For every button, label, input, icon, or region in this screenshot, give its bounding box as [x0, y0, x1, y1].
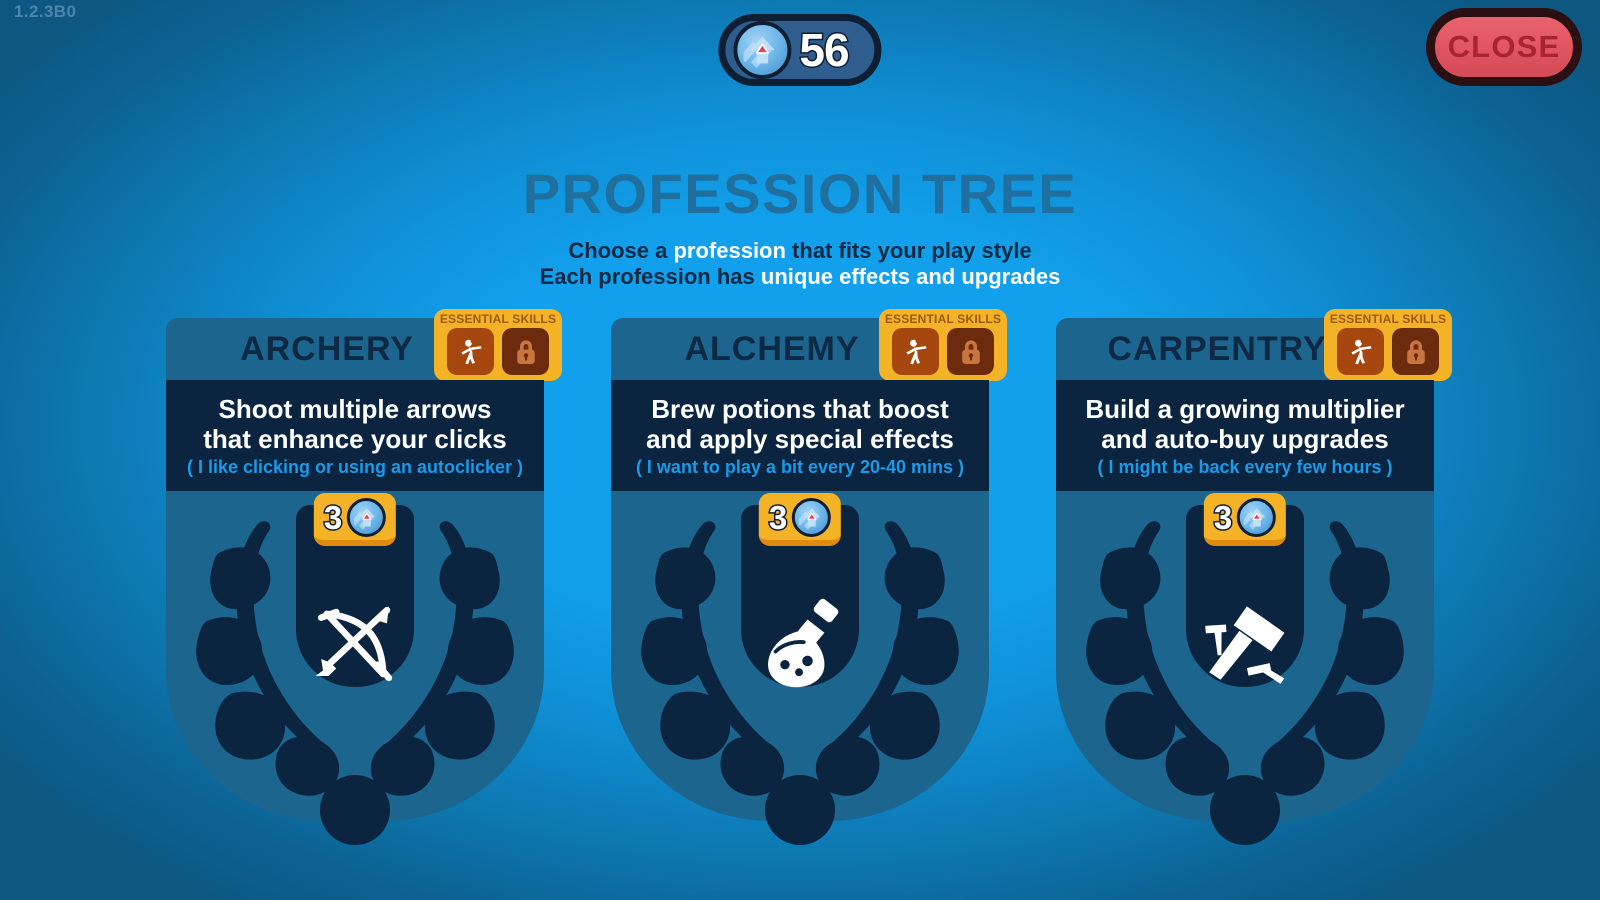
desc-line-1: Brew potions that boost [621, 394, 979, 424]
profession-card-carpentry[interactable]: CARPENTRY ESSENTIAL SKILLS [1056, 318, 1434, 821]
token-arrow-glyph [799, 505, 825, 531]
page-title: PROFESSION TREE [0, 166, 1600, 222]
essential-skills-badge-carpentry[interactable]: ESSENTIAL SKILLS [1324, 309, 1452, 381]
price-amount: 3 [769, 501, 787, 534]
lock-glyph [957, 337, 985, 367]
card-body-carpentry: 3 [1056, 491, 1434, 821]
potion-flask-icon [753, 597, 847, 691]
token-arrow-glyph [743, 32, 781, 70]
price-amount: 3 [324, 501, 342, 534]
card-header-carpentry: CARPENTRY ESSENTIAL SKILLS [1056, 318, 1434, 380]
subtitle-line-1: Choose a profession that fits your play … [0, 238, 1600, 264]
essential-skills-icons [1324, 328, 1452, 375]
card-description-carpentry: Build a growing multiplier and auto-buy … [1056, 380, 1434, 491]
archer-figure-icon[interactable] [1337, 328, 1384, 375]
profession-card-row: ARCHERY ESSENTIAL SKILLS [0, 318, 1600, 821]
card-base-dot [765, 775, 835, 845]
card-base-dot [320, 775, 390, 845]
essential-skills-icons [879, 328, 1007, 375]
essential-skills-badge-alchemy[interactable]: ESSENTIAL SKILLS [879, 309, 1007, 381]
card-body-alchemy: 3 [611, 491, 989, 821]
essential-skills-icons [434, 328, 562, 375]
subtitle-l1-a: Choose a [568, 238, 673, 263]
lock-icon[interactable] [947, 328, 994, 375]
upgrade-token-icon [733, 21, 791, 79]
lock-glyph [512, 337, 540, 367]
bow-and-arrow-icon [308, 597, 402, 691]
desc-line-2: and apply special effects [621, 424, 979, 454]
currency-amount: 56 [799, 27, 848, 73]
essential-skills-badge-archery[interactable]: ESSENTIAL SKILLS [434, 309, 562, 381]
upgrade-token-icon [1237, 498, 1276, 537]
subtitle-l2-a: Each profession has [540, 264, 761, 289]
desc-note: ( I like clicking or using an autoclicke… [176, 457, 534, 478]
lock-icon[interactable] [1392, 328, 1439, 375]
desc-note: ( I want to play a bit every 20-40 mins … [621, 457, 979, 478]
subtitle-l1-highlight: profession [673, 238, 785, 263]
close-button-label: CLOSE [1448, 29, 1561, 65]
archer-figure-glyph [901, 337, 931, 367]
subtitle-line-2: Each profession has unique effects and u… [0, 264, 1600, 290]
price-chip-alchemy[interactable]: 3 [759, 493, 841, 546]
price-chip-archery[interactable]: 3 [314, 493, 396, 546]
profession-tree-screen: 1.2.3B0 56 CLOSE PROFESSION TREE Choose … [0, 0, 1600, 900]
archer-figure-icon[interactable] [447, 328, 494, 375]
essential-skills-label: ESSENTIAL SKILLS [879, 312, 1007, 326]
currency-counter: 56 [718, 14, 881, 86]
essential-skills-label: ESSENTIAL SKILLS [1324, 312, 1452, 326]
upgrade-token-icon [792, 498, 831, 537]
desc-line-1: Shoot multiple arrows [176, 394, 534, 424]
version-label: 1.2.3B0 [14, 2, 76, 22]
essential-skills-label: ESSENTIAL SKILLS [434, 312, 562, 326]
price-chip-carpentry[interactable]: 3 [1204, 493, 1286, 546]
archer-figure-glyph [456, 337, 486, 367]
card-body-archery: 3 [166, 491, 544, 821]
card-header-alchemy: ALCHEMY ESSENTIAL SKILLS [611, 318, 989, 380]
upgrade-token-icon [347, 498, 386, 537]
profession-card-archery[interactable]: ARCHERY ESSENTIAL SKILLS [166, 318, 544, 821]
desc-line-2: and auto-buy upgrades [1066, 424, 1424, 454]
desc-line-2: that enhance your clicks [176, 424, 534, 454]
subtitle-l1-b: that fits your play style [786, 238, 1032, 263]
card-description-alchemy: Brew potions that boost and apply specia… [611, 380, 989, 491]
lock-icon[interactable] [502, 328, 549, 375]
card-description-archery: Shoot multiple arrows that enhance your … [166, 380, 544, 491]
profession-card-alchemy[interactable]: ALCHEMY ESSENTIAL SKILLS [611, 318, 989, 821]
desc-note: ( I might be back every few hours ) [1066, 457, 1424, 478]
page-subtitle: Choose a profession that fits your play … [0, 238, 1600, 290]
lock-glyph [1402, 337, 1430, 367]
close-button[interactable]: CLOSE [1426, 8, 1582, 86]
token-arrow-glyph [354, 505, 380, 531]
card-base-dot [1210, 775, 1280, 845]
archer-figure-icon[interactable] [892, 328, 939, 375]
hammer-and-nails-icon [1198, 597, 1292, 691]
price-amount: 3 [1214, 501, 1232, 534]
archer-figure-glyph [1346, 337, 1376, 367]
desc-line-1: Build a growing multiplier [1066, 394, 1424, 424]
card-header-archery: ARCHERY ESSENTIAL SKILLS [166, 318, 544, 380]
token-arrow-glyph [1244, 505, 1270, 531]
subtitle-l2-highlight: unique effects and upgrades [761, 264, 1061, 289]
